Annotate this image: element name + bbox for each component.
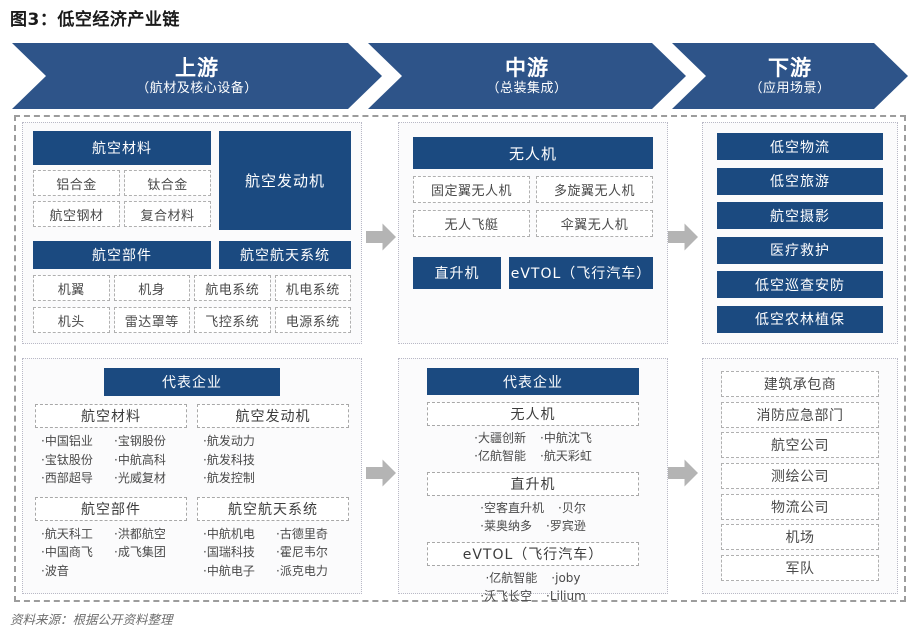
- company-name: ·航天彩虹: [540, 447, 592, 465]
- stage-header-band: 上游 （航材及核心设备） 中游 （总装集成） 下游 （应用场景）: [12, 43, 908, 109]
- company-name: ·沃飞长空: [480, 587, 532, 605]
- company-name: ·莱奥纳多: [480, 517, 532, 535]
- downstream-scenario: 低空物流: [717, 133, 883, 160]
- upstream-systems-title: 航空航天系统: [219, 241, 351, 269]
- midstream-rep-company-list: ·亿航智能·joby ·沃飞长空·Lilium: [427, 569, 639, 605]
- company-name: ·中航机电: [203, 525, 276, 544]
- upstream-part-item: 机翼: [33, 275, 110, 301]
- company-name: ·航天科工: [41, 525, 114, 544]
- upstream-materials-title: 航空材料: [33, 131, 211, 165]
- stage-name-downstream: 下游: [768, 56, 812, 81]
- stage-name-upstream: 上游: [175, 56, 219, 81]
- downstream-customer: 机场: [721, 524, 879, 550]
- company-name: ·波音: [41, 562, 114, 581]
- company-name: ·国瑞科技: [203, 543, 276, 562]
- midstream-rep-company-list: ·空客直升机·贝尔 ·莱奥纳多·罗宾逊: [427, 499, 639, 535]
- midstream-rep-group-title: eVTOL（飞行汽车）: [427, 542, 639, 566]
- midstream-uav-item: 固定翼无人机: [413, 176, 530, 203]
- company-name: ·中航电子: [203, 562, 276, 581]
- company-name: ·古德里奇: [276, 525, 349, 544]
- company-name: ·宝钛股份: [41, 451, 114, 470]
- downstream-scenario: 航空摄影: [717, 202, 883, 229]
- upstream-part-item: 雷达罩等: [114, 307, 191, 333]
- stage-chevron-downstream: 下游 （应用场景）: [672, 43, 908, 109]
- upstream-material-item: 复合材料: [124, 201, 211, 227]
- upstream-rep-company-list: ·中航机电·古德里奇 ·国瑞科技·霍尼韦尔 ·中航电子·派克电力: [197, 525, 349, 581]
- upstream-material-item: 钛合金: [124, 170, 211, 196]
- upstream-system-item: 电源系统: [275, 307, 352, 333]
- upstream-companies-panel: 代表企业 航空材料 ·中国铝业·宝钢股份 ·宝钛股份·中航高科 ·西部超导·光威…: [22, 358, 362, 594]
- midstream-uav-item: 多旋翼无人机: [536, 176, 653, 203]
- company-name: ·亿航智能: [474, 447, 526, 465]
- downstream-scenarios-panel: 低空物流 低空旅游 航空摄影 医疗救护 低空巡查安防 低空农林植保: [702, 122, 898, 344]
- upstream-system-item: 机电系统: [275, 275, 352, 301]
- stage-chevron-upstream: 上游 （航材及核心设备）: [12, 43, 382, 109]
- company-name: ·中国铝业: [41, 432, 114, 451]
- downstream-scenario: 低空巡查安防: [717, 271, 883, 298]
- upstream-part-item: 机身: [114, 275, 191, 301]
- upstream-system-item: 飞控系统: [194, 307, 271, 333]
- midstream-helicopter-title: 直升机: [413, 257, 501, 289]
- downstream-scenario: 医疗救护: [717, 237, 883, 264]
- midstream-evtol-title: eVTOL（飞行汽车）: [509, 257, 653, 289]
- company-name: ·航发科技: [203, 451, 276, 470]
- company-name: ·joby: [551, 569, 580, 587]
- stage-chevron-midstream: 中游 （总装集成）: [368, 43, 686, 109]
- company-name: ·罗宾逊: [546, 517, 586, 535]
- upstream-rep-group-title: 航空材料: [35, 404, 187, 428]
- midstream-rep-company-list: ·大疆创新·中航沈飞 ·亿航智能·航天彩虹: [427, 429, 639, 465]
- downstream-customer: 物流公司: [721, 494, 879, 520]
- upstream-part-item: 机头: [33, 307, 110, 333]
- upstream-rep-group-title: 航空发动机: [197, 404, 349, 428]
- stage-sub-downstream: （应用场景）: [749, 81, 830, 96]
- company-name: ·空客直升机: [480, 499, 544, 517]
- figure-title: 图3：低空经济产业链: [10, 5, 180, 30]
- stage-name-midstream: 中游: [505, 56, 549, 81]
- midstream-rep-group-title: 直升机: [427, 472, 639, 496]
- upstream-system-item: 航电系统: [194, 275, 271, 301]
- company-name: ·中国商飞: [41, 543, 114, 562]
- company-name: ·Lilium: [546, 587, 586, 605]
- downstream-customer: 测绘公司: [721, 463, 879, 489]
- downstream-customer: 军队: [721, 555, 879, 581]
- upstream-rep-group-title: 航空部件: [35, 497, 187, 521]
- downstream-customer: 消防应急部门: [721, 402, 879, 428]
- source-note: 资料来源：根据公开资料整理: [10, 609, 173, 628]
- downstream-customers-panel: 建筑承包商 消防应急部门 航空公司 测绘公司 物流公司 机场 军队: [702, 358, 898, 594]
- midstream-uav-item: 无人飞艇: [413, 210, 530, 237]
- downstream-customer: 航空公司: [721, 432, 879, 458]
- upstream-engine-title: 航空发动机: [219, 131, 351, 230]
- company-name: ·大疆创新: [474, 429, 526, 447]
- company-name: ·航发动力: [203, 432, 276, 451]
- upstream-material-item: 铝合金: [33, 170, 120, 196]
- upstream-rep-group-title: 航空航天系统: [197, 497, 349, 521]
- company-name: ·中航沈飞: [540, 429, 592, 447]
- upstream-parts-title: 航空部件: [33, 241, 211, 269]
- company-name: ·霍尼韦尔: [276, 543, 349, 562]
- midstream-representatives-title: 代表企业: [427, 368, 639, 395]
- company-name: ·成飞集团: [114, 543, 187, 562]
- company-name: ·西部超导: [41, 469, 114, 488]
- company-name: ·派克电力: [276, 562, 349, 581]
- upstream-material-item: 航空钢材: [33, 201, 120, 227]
- company-name: ·中航高科: [114, 451, 187, 470]
- downstream-scenario: 低空旅游: [717, 168, 883, 195]
- midstream-rep-group-title: 无人机: [427, 402, 639, 426]
- upstream-rep-company-list: ·航发动力 ·航发科技 ·航发控制: [197, 432, 349, 488]
- company-name: ·航发控制: [203, 469, 276, 488]
- company-name: ·亿航智能: [485, 569, 537, 587]
- downstream-scenario: 低空农林植保: [717, 306, 883, 333]
- upstream-representatives-title: 代表企业: [104, 368, 280, 396]
- downstream-customer: 建筑承包商: [721, 371, 879, 397]
- upstream-rep-company-list: ·中国铝业·宝钢股份 ·宝钛股份·中航高科 ·西部超导·光威复材: [35, 432, 187, 488]
- midstream-uav-item: 伞翼无人机: [536, 210, 653, 237]
- upstream-rep-company-list: ·航天科工·洪都航空 ·中国商飞·成飞集团 ·波音: [35, 525, 187, 581]
- stage-sub-midstream: （总装集成）: [486, 81, 567, 96]
- stage-sub-upstream: （航材及核心设备）: [136, 81, 258, 96]
- midstream-segments-panel: 无人机 固定翼无人机 多旋翼无人机 无人飞艇 伞翼无人机 直升机 eVTOL（飞…: [398, 122, 668, 344]
- midstream-uav-title: 无人机: [413, 137, 653, 169]
- company-name: ·光威复材: [114, 469, 187, 488]
- midstream-companies-panel: 代表企业 无人机 ·大疆创新·中航沈飞 ·亿航智能·航天彩虹 直升机 ·空客直升…: [398, 358, 668, 594]
- company-name: ·贝尔: [558, 499, 586, 517]
- upstream-segments-panel: 航空材料 铝合金 钛合金 航空钢材 复合材料 航空发动机 航空部件 航空航天系统…: [22, 122, 362, 344]
- company-name: ·洪都航空: [114, 525, 187, 544]
- company-name: ·宝钢股份: [114, 432, 187, 451]
